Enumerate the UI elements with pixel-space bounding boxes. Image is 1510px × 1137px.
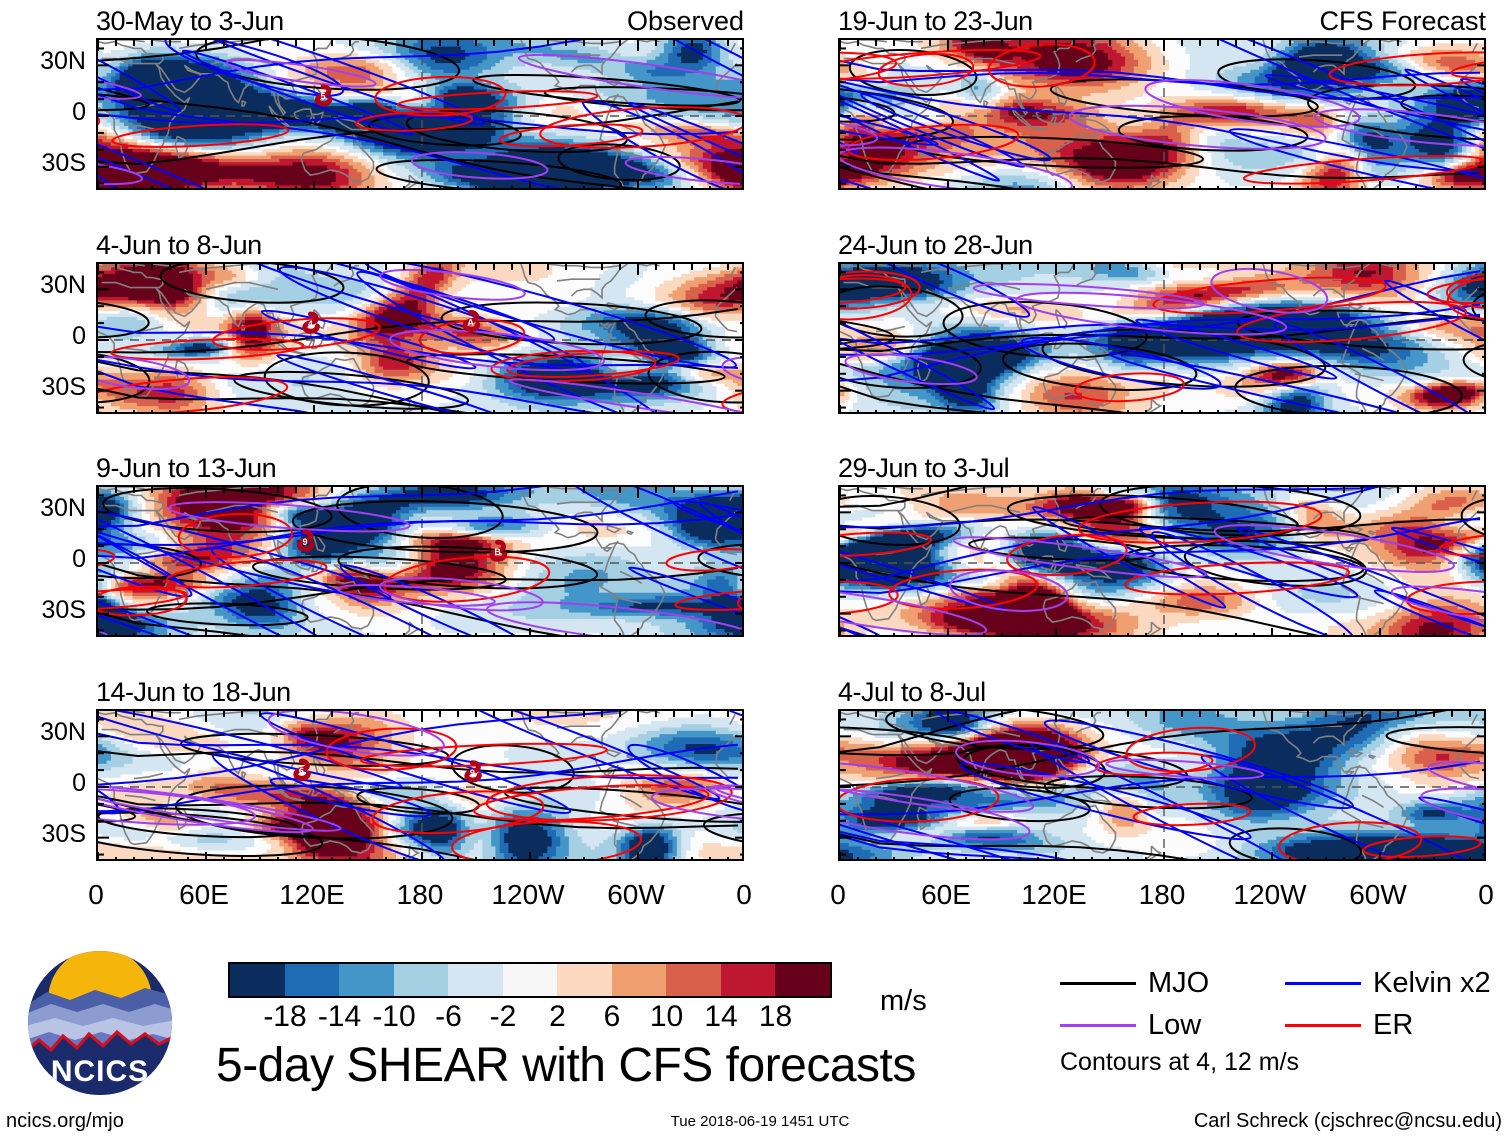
- colorbar-swatch: [394, 964, 449, 996]
- panel-title: 9-Jun to 13-Jun: [96, 453, 276, 484]
- x-axis-tick-label: 0: [736, 879, 752, 911]
- map-plot-area: [838, 262, 1486, 414]
- colorbar-swatches: [228, 962, 832, 998]
- x-axis-tick-label: 60E: [921, 879, 971, 911]
- x-axis-tick-label: 0: [88, 879, 104, 911]
- panel-title: 29-Jun to 3-Jul: [838, 453, 1009, 484]
- footer-timestamp: Tue 2018-06-19 1451 UTC: [671, 1113, 850, 1130]
- x-axis-tick-label: 60W: [607, 879, 665, 911]
- y-axis-tick-label: 30N: [4, 271, 86, 300]
- x-axis-tick-label: 60E: [179, 879, 229, 911]
- colorbar-swatch: [612, 964, 667, 996]
- legend-item: MJO: [1060, 962, 1285, 1004]
- legend-label: Kelvin x2: [1373, 967, 1491, 1000]
- colorbar-tick-label: -18: [263, 1000, 306, 1034]
- logo-text: NCICS: [51, 1055, 149, 1088]
- page-title: 5-day SHEAR with CFS forecasts: [216, 1038, 916, 1093]
- legend-line-swatch: [1060, 982, 1136, 985]
- contour-interval-note: Contours at 4, 12 m/s: [1060, 1048, 1299, 1077]
- colorbar-tick-label: -6: [435, 1000, 462, 1034]
- y-axis-tick-label: 30S: [4, 149, 86, 178]
- legend-label: ER: [1373, 1009, 1413, 1042]
- y-axis-tick-label: 30S: [4, 373, 86, 402]
- legend-line-swatch: [1285, 1024, 1361, 1027]
- colorbar-tick-label: -10: [372, 1000, 415, 1034]
- panel-title: 4-Jul to 8-Jul: [838, 677, 986, 708]
- map-plot-area: [838, 709, 1486, 861]
- map-plot-area: [838, 38, 1486, 190]
- footer-website: ncics.org/mjo: [6, 1110, 124, 1133]
- shear-anomaly-shading: [840, 487, 1486, 637]
- colorbar-tick-label: 6: [604, 1000, 621, 1034]
- y-axis-tick-label: 0: [4, 545, 86, 574]
- colorbar-swatch: [448, 964, 503, 996]
- colorbar-swatch: [557, 964, 612, 996]
- legend-item: Kelvin x2: [1285, 962, 1510, 1004]
- y-axis-tick-label: 0: [4, 322, 86, 351]
- colorbar-swatch: [285, 964, 340, 996]
- y-axis-tick-label: 30N: [4, 494, 86, 523]
- panel-title: 30-May to 3-Jun: [96, 6, 284, 37]
- x-axis-tick-label: 180: [397, 879, 444, 911]
- map-plot-area: 5: [96, 38, 744, 190]
- legend-line-swatch: [1060, 1024, 1136, 1027]
- y-axis-tick-label: 0: [4, 769, 86, 798]
- panel-title: 19-Jun to 23-Jun: [838, 6, 1033, 37]
- panel-title: 14-Jun to 18-Jun: [96, 677, 291, 708]
- colorbar: -18-14-10-6-226101418: [228, 962, 832, 1034]
- x-axis-tick-label: 120W: [1233, 879, 1306, 911]
- colorbar-tick-label: -14: [318, 1000, 361, 1034]
- x-axis-tick-label: 60W: [1349, 879, 1407, 911]
- x-axis-tick-label: 120E: [279, 879, 344, 911]
- map-plot-area: 69: [96, 709, 744, 861]
- legend-label: Low: [1148, 1009, 1201, 1042]
- y-axis-tick-label: 30N: [4, 47, 86, 76]
- x-axis-tick-label: 120W: [491, 879, 564, 911]
- legend-label: MJO: [1148, 967, 1209, 1000]
- y-axis-tick-label: 30N: [4, 718, 86, 747]
- map-plot-area: 4A: [96, 262, 744, 414]
- colorbar-tick-label: 18: [759, 1000, 792, 1034]
- colorbar-unit-label: m/s: [880, 985, 927, 1018]
- legend-item: Low: [1060, 1004, 1285, 1046]
- y-axis-tick-label: 30S: [4, 820, 86, 849]
- panel-title: 4-Jun to 8-Jun: [96, 230, 262, 261]
- colorbar-tick-label: 10: [650, 1000, 683, 1034]
- colorbar-swatch: [339, 964, 394, 996]
- x-axis-tick-label: 0: [830, 879, 846, 911]
- x-axis-tick-label: 180: [1139, 879, 1186, 911]
- column-header-right: CFS Forecast: [1266, 6, 1486, 37]
- colorbar-tick-labels: -18-14-10-6-226101418: [228, 1000, 832, 1034]
- ncics-logo: NCICS: [25, 948, 175, 1098]
- y-axis-tick-label: 30S: [4, 596, 86, 625]
- colorbar-tick-label: 14: [704, 1000, 737, 1034]
- legend-line-swatch: [1285, 982, 1361, 985]
- x-axis-tick-label: 120E: [1021, 879, 1086, 911]
- colorbar-tick-label: -2: [490, 1000, 517, 1034]
- colorbar-swatch: [721, 964, 776, 996]
- map-plot-area: [838, 485, 1486, 637]
- footer-author: Carl Schreck (cjschrec@ncsu.edu): [1194, 1110, 1502, 1133]
- contour-legend: MJOKelvin x2LowER: [1060, 962, 1510, 1046]
- colorbar-swatch: [230, 964, 285, 996]
- colorbar-swatch: [666, 964, 721, 996]
- x-axis-tick-label: 0: [1478, 879, 1494, 911]
- column-header-left: Observed: [524, 6, 744, 37]
- y-axis-tick-label: 0: [4, 98, 86, 127]
- map-plot-area: 9B: [96, 485, 744, 637]
- legend-item: ER: [1285, 1004, 1510, 1046]
- colorbar-swatch: [775, 964, 830, 996]
- colorbar-tick-label: 2: [549, 1000, 566, 1034]
- colorbar-swatch: [503, 964, 558, 996]
- panel-title: 24-Jun to 28-Jun: [838, 230, 1033, 261]
